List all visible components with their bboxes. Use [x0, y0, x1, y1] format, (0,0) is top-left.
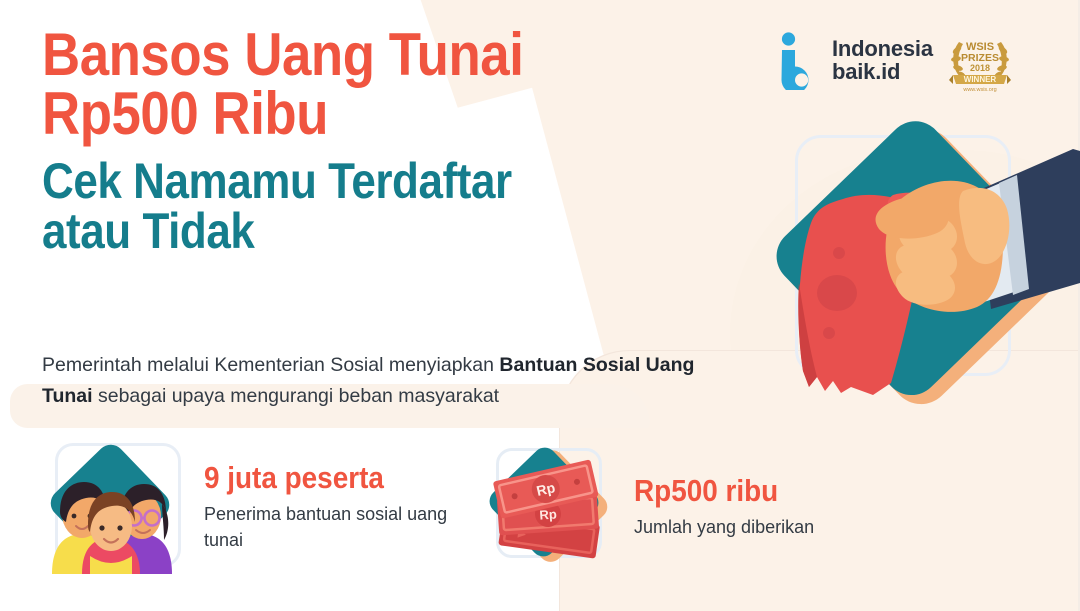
lede-paragraph: Pemerintah melalui Kementerian Sosial me… [42, 350, 722, 412]
headline-secondary: Cek Namamu Terdaftar atau Tidak [42, 156, 658, 256]
brand-logo-cluster: Indonesia baik.id WSIS PRIZES 2018 [778, 28, 1013, 94]
brand-line-2: baik.id [832, 61, 933, 84]
headline-secondary-line-1: Cek Namamu Terdaftar [42, 156, 658, 206]
lede-part-1: Pemerintah melalui Kementerian Sosial me… [42, 354, 499, 376]
stat-row-amount: Rp Rp Rp500 ribu Jumlah yang diberikan [474, 438, 814, 574]
headline-secondary-line-2: atau Tidak [42, 206, 658, 256]
stat-text-participants: 9 juta peserta Penerima bantuan sosial u… [204, 458, 454, 553]
stat-value-participants: 9 juta peserta [204, 462, 429, 493]
brand-line-1: Indonesia [832, 38, 933, 61]
infographic-poster: Bansos Uang Tunai Rp500 Ribu Cek Namamu … [0, 0, 1080, 611]
headline-block: Bansos Uang Tunai Rp500 Ribu Cek Namamu … [42, 26, 742, 256]
lede-part-2: sebagai upaya mengurangi beban masyaraka… [93, 385, 500, 407]
brand-wordmark: Indonesia baik.id [832, 38, 933, 84]
wsis-prizes-2018-winner-badge-icon: WSIS PRIZES 2018 WINNER www.wsis.org [947, 28, 1013, 94]
badge-ribbon-label: WINNER [964, 75, 997, 84]
badge-url: www.wsis.org [962, 87, 996, 93]
indonesiabaik-b-mark-icon [778, 32, 822, 90]
stat-desc-amount: Jumlah yang diberikan [634, 515, 814, 541]
headline-primary: Bansos Uang Tunai Rp500 Ribu [42, 26, 658, 144]
headline-primary-line-2: Rp500 Ribu [42, 85, 658, 144]
rupiah-banknotes-illustration: Rp Rp [474, 438, 624, 574]
stat-row-participants: 9 juta peserta Penerima bantuan sosial u… [32, 438, 454, 574]
stat-text-amount: Rp500 ribu Jumlah yang diberikan [634, 471, 814, 541]
stat-value-amount: Rp500 ribu [634, 475, 796, 506]
badge-line-3: 2018 [970, 63, 990, 73]
family-three-people-illustration [32, 438, 188, 574]
hero-hand-holding-money-pouch-illustration [755, 95, 1080, 425]
headline-primary-line-1: Bansos Uang Tunai [42, 26, 658, 85]
stat-desc-participants: Penerima bantuan sosial uang tunai [204, 502, 454, 553]
